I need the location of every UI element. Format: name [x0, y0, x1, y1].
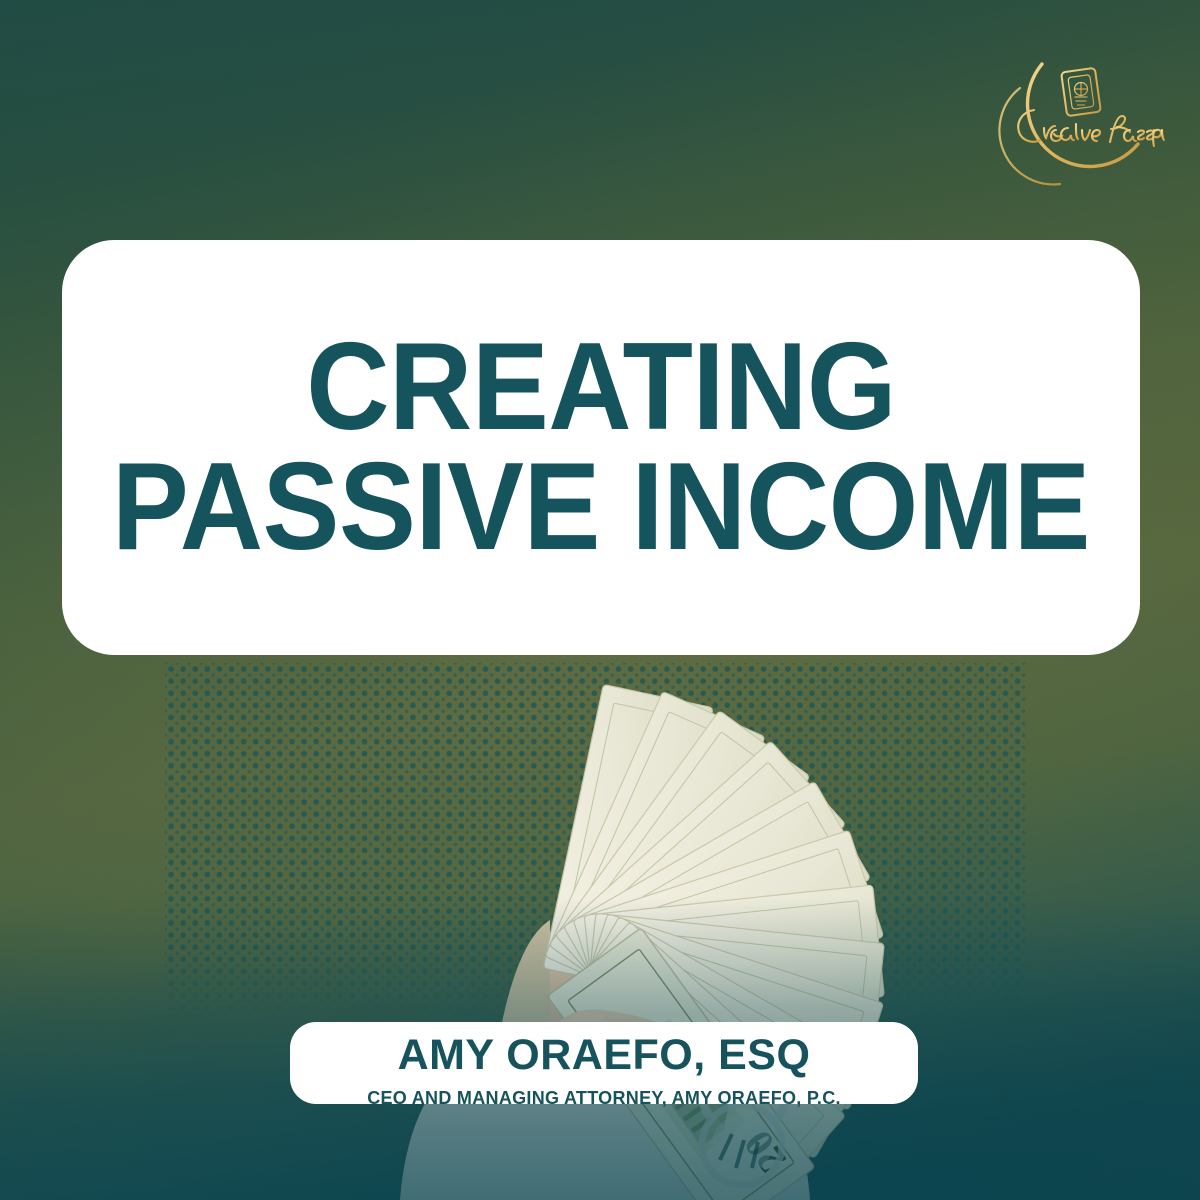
- brand-logo[interactable]: [990, 48, 1170, 198]
- logo-wordmark: [1018, 110, 1167, 146]
- speaker-role: CEO AND MANAGING ATTORNEY, AMY ORAEFO, P…: [324, 1085, 884, 1111]
- hero-photo: 5 5 5 50 10 10 10 10 20: [250, 640, 950, 1200]
- title-line-2: PASSIVE INCOME: [112, 448, 1090, 567]
- title-card: CREATING PASSIVE INCOME: [62, 240, 1140, 655]
- speaker-name-card: AMY ORAEFO, ESQ CEO AND MANAGING ATTORNE…: [290, 1022, 918, 1104]
- title-line-1: CREATING: [306, 328, 896, 447]
- passport-book-icon: [1061, 68, 1101, 116]
- social-media-poster: 5 5 5 50 10 10 10 10 20: [0, 0, 1200, 1200]
- speaker-name: AMY ORAEFO, ESQ: [398, 1034, 811, 1077]
